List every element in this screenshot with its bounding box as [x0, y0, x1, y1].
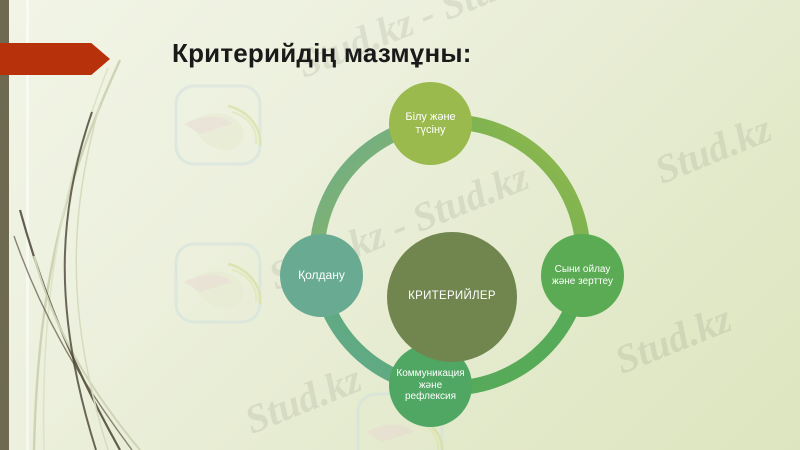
- accent-arrow-shape: [0, 43, 110, 75]
- cycle-node-left-label: Қолдану: [293, 269, 350, 283]
- stud-bird-logo-icon: [170, 238, 274, 334]
- page-title: Критерийдің мазмұны:: [172, 38, 472, 69]
- criteria-cycle-diagram: Білу және түсіну Сыни ойлау және зерттеу…: [276, 82, 628, 430]
- watermark-text: Stud.kz: [648, 105, 778, 194]
- cycle-node-right[interactable]: Сыни ойлау және зерттеу: [541, 234, 624, 317]
- cycle-center-node[interactable]: КРИТЕРИЙЛЕР: [387, 232, 517, 362]
- cycle-node-left[interactable]: Қолдану: [280, 234, 363, 317]
- cycle-node-top-label: Білу және түсіну: [389, 111, 472, 137]
- cycle-node-right-label: Сыни ойлау және зерттеу: [541, 264, 624, 287]
- grass-decoration-icon: [0, 60, 230, 450]
- cycle-node-bottom-label: Коммуникация және рефлексия: [389, 368, 472, 403]
- cycle-node-top[interactable]: Білу және түсіну: [389, 82, 472, 165]
- stud-bird-logo-icon: [170, 80, 274, 176]
- cycle-center-label: КРИТЕРИЙЛЕР: [403, 290, 501, 303]
- slide-canvas: Stud.kz - Stud.kz Stud.kz - Stud.kz Stud…: [0, 0, 800, 450]
